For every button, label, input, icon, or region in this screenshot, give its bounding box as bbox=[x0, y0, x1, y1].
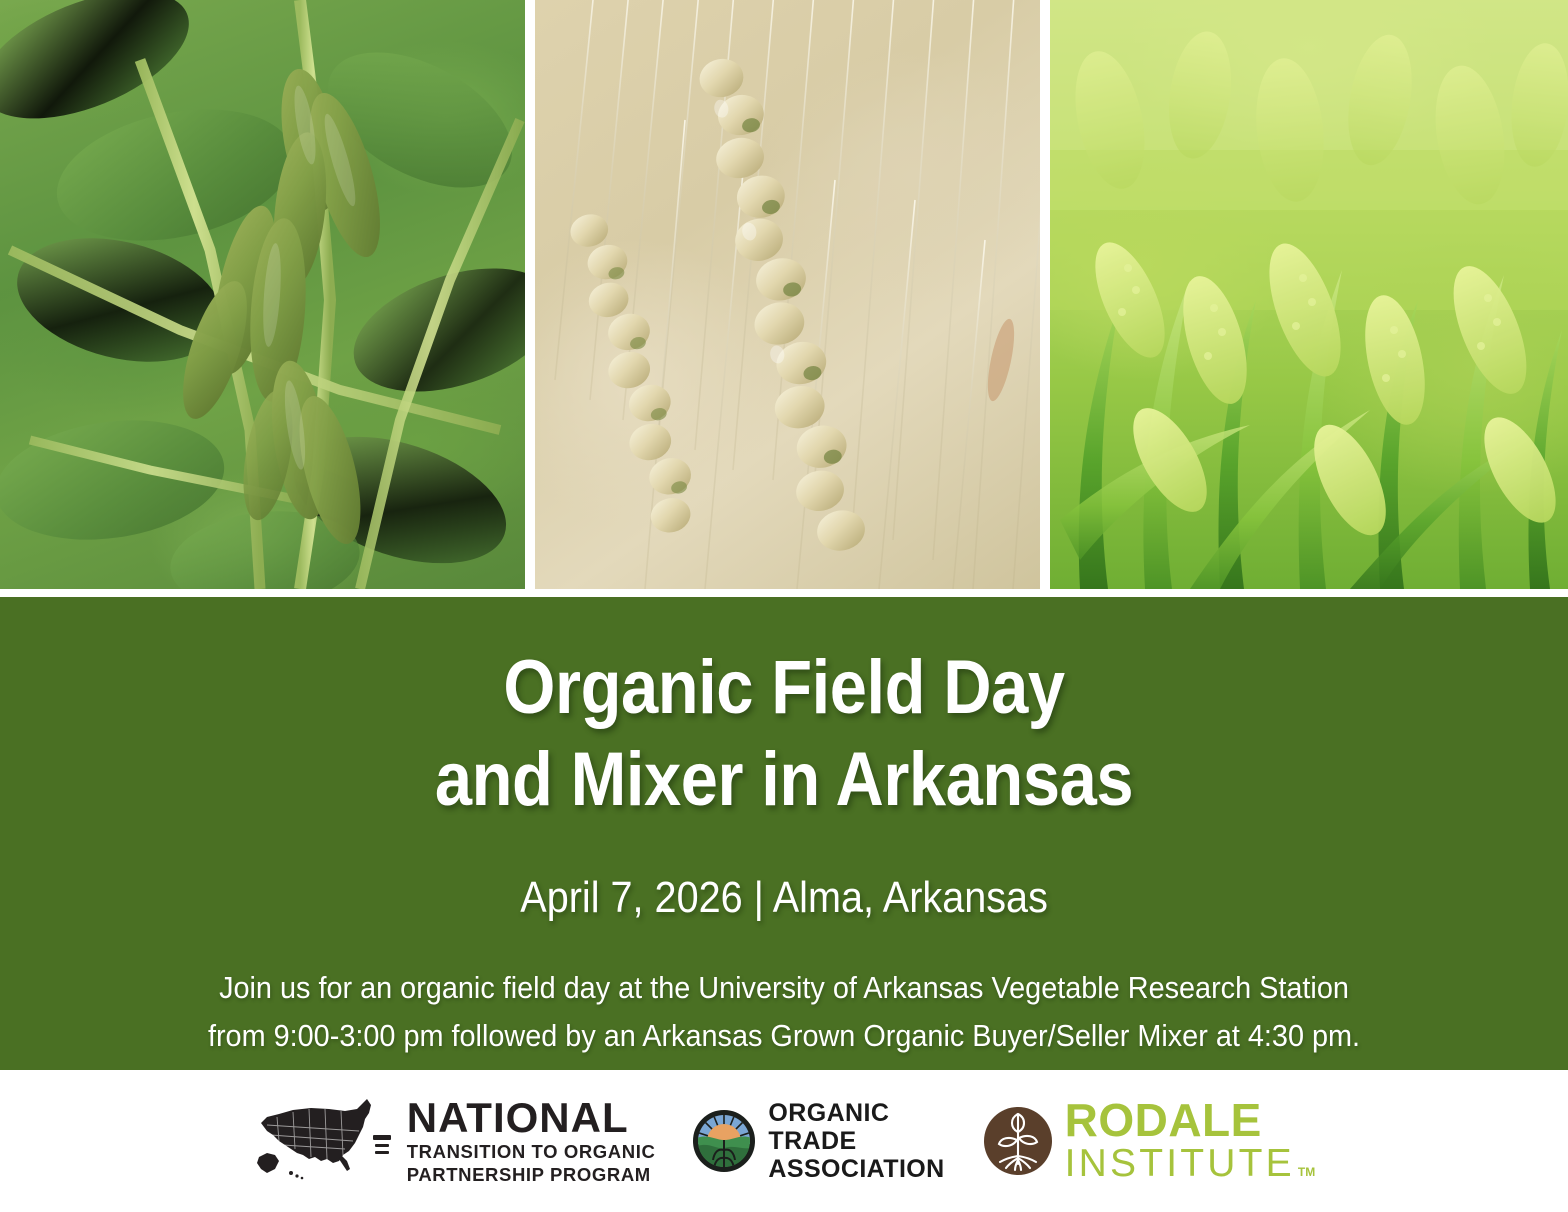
description-line-1: Join us for an organic field day at the … bbox=[100, 964, 1467, 1012]
event-details-band: Organic Field Day and Mixer in Arkansas … bbox=[0, 597, 1568, 1070]
ota-line-2: TRADE bbox=[768, 1127, 944, 1155]
title-line-2: and Mixer in Arkansas bbox=[168, 734, 1400, 826]
sun-field-emblem-icon bbox=[693, 1110, 755, 1172]
title-line-1: Organic Field Day bbox=[168, 597, 1400, 734]
ntopp-wordmark: NATIONAL TRANSITION TO ORGANIC PARTNERSH… bbox=[407, 1096, 656, 1186]
rice-photo bbox=[1050, 0, 1568, 589]
ntopp-subline-2: PARTNERSHIP PROGRAM bbox=[407, 1163, 656, 1186]
page-title: Organic Field Day and Mixer in Arkansas bbox=[168, 597, 1400, 826]
photo-strip bbox=[0, 0, 1568, 589]
ota-line-3: ASSOCIATION bbox=[768, 1155, 944, 1183]
ota-line-1: ORGANIC bbox=[768, 1099, 944, 1127]
rodale-word-rodale: RODALE bbox=[1065, 1097, 1316, 1143]
logo-organic-trade-association: ORGANIC TRADE ASSOCIATION bbox=[693, 1099, 944, 1183]
rodale-word-institute: INSTITUTE bbox=[1065, 1143, 1295, 1185]
ntopp-subline-1: TRANSITION TO ORGANIC bbox=[407, 1140, 656, 1163]
logo-rodale-institute: RODALE INSTITUTE TM bbox=[983, 1097, 1316, 1185]
partner-logos-footer: NATIONAL TRANSITION TO ORGANIC PARTNERSH… bbox=[0, 1070, 1568, 1212]
soybean-photo-art bbox=[0, 0, 525, 589]
wheat-photo-art bbox=[535, 0, 1040, 589]
rodale-wordmark: RODALE INSTITUTE TM bbox=[1065, 1097, 1316, 1185]
ota-wordmark: ORGANIC TRADE ASSOCIATION bbox=[768, 1099, 944, 1183]
rice-photo-art bbox=[1050, 0, 1568, 589]
event-date-location: April 7, 2026 | Alma, Arkansas bbox=[520, 826, 1048, 924]
description-line-2: from 9:00-3:00 pm followed by an Arkansa… bbox=[100, 1012, 1467, 1060]
rodale-trademark-symbol: TM bbox=[1298, 1165, 1315, 1185]
soybean-photo bbox=[0, 0, 525, 589]
wheat-photo bbox=[535, 0, 1040, 589]
organic-field-day-flyer: Organic Field Day and Mixer in Arkansas … bbox=[0, 0, 1568, 1212]
logo-national-transition-to-organic-partnership-program: NATIONAL TRANSITION TO ORGANIC PARTNERSH… bbox=[253, 1096, 656, 1186]
event-description: Join us for an organic field day at the … bbox=[100, 924, 1467, 1060]
ntopp-word-national: NATIONAL bbox=[407, 1096, 656, 1140]
us-map-icon bbox=[253, 1097, 393, 1185]
plant-roots-emblem-icon bbox=[983, 1106, 1053, 1176]
